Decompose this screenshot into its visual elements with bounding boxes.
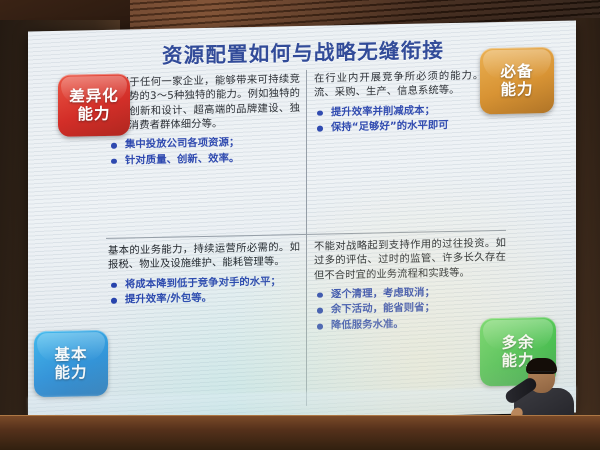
podium	[0, 416, 600, 450]
capability-matrix: 有别于任何一家企业，能够带来可持续竞争优势的3～5种独特的能力。例如独特的产品创…	[106, 64, 506, 410]
quadrant-redundant-bullets: 逐个清理，考虑取消； 余下活动，能省则省； 降低服务水准。	[314, 284, 506, 334]
quadrant-basic-bullets: 将成本降到低于竞争对手的水平； 提升效率/外包等。	[108, 274, 300, 308]
bullet-text: 集中投放公司各项资源；	[125, 136, 239, 150]
bullet-text: 将成本降到低于竞争对手的水平；	[125, 275, 281, 290]
badge-line-2: 能力	[77, 105, 110, 124]
bullet-text: 保持“足够好”的水平即可	[331, 119, 449, 133]
badge-line-1: 必备	[500, 62, 533, 81]
bullet-text: 提升效率并削减成本；	[331, 104, 435, 118]
bullet-text: 提升效率/外包等。	[125, 292, 212, 306]
quadrant-differentiating: 有别于任何一家企业，能够带来可持续竞争优势的3～5种独特的能力。例如独特的产品创…	[108, 72, 300, 169]
bullet-text: 余下活动，能省则省；	[331, 302, 435, 316]
photo-scene: 资源配置如何与战略无缝衔接 有别于任何一家企业，能够带来可持续竞争优势的3～5种…	[0, 0, 600, 450]
badge-essential-capability: 必备 能力	[480, 47, 554, 114]
bullet-dot-icon	[111, 143, 117, 149]
badge-basic-capability: 基本 能力	[34, 330, 108, 397]
quadrant-essential-bullets: 提升效率并削减成本； 保持“足够好”的水平即可	[314, 101, 506, 135]
bullet-text: 针对质量、创新、效率。	[125, 152, 239, 166]
quadrant-basic-paragraph: 基本的业务能力，持续运营所必需的。如报税、物业及设施维护、能耗管理等。	[108, 240, 300, 272]
bullet-text: 逐个清理，考虑取消；	[331, 286, 435, 300]
quadrant-differentiating-bullets: 集中投放公司各项资源； 针对质量、创新、效率。	[108, 134, 300, 168]
badge-differentiating-capability: 差异化 能力	[58, 73, 130, 136]
presenter-glasses	[528, 371, 555, 377]
bullet-item: 针对质量、创新、效率。	[108, 150, 300, 168]
bullet-dot-icon	[317, 324, 323, 330]
bullet-item: 提升效率/外包等。	[108, 289, 300, 307]
quadrant-essential-paragraph: 在行业内开展竞争所必须的能力。如物流、采购、生产、信息系统等。	[314, 68, 506, 100]
badge-line-2: 能力	[500, 80, 533, 99]
badge-line-1: 多余	[501, 333, 534, 352]
matrix-vertical-divider	[306, 70, 307, 406]
badge-line-1: 基本	[54, 345, 87, 364]
bullet-dot-icon	[111, 298, 117, 304]
bullet-dot-icon	[111, 159, 117, 165]
quadrant-differentiating-paragraph: 有别于任何一家企业，能够带来可持续竞争优势的3～5种独特的能力。例如独特的产品创…	[108, 72, 300, 133]
quadrant-redundant: 不能对战略起到支持作用的过往投资。如过多的评估、过时的监管、许多长久存在但不合时…	[314, 236, 506, 335]
badge-line-1: 差异化	[69, 86, 119, 105]
bullet-item: 降低服务水准。	[314, 315, 506, 333]
bullet-dot-icon	[317, 308, 323, 314]
quadrant-redundant-paragraph: 不能对战略起到支持作用的过往投资。如过多的评估、过时的监管、许多长久存在但不合时…	[314, 236, 506, 283]
slide: 资源配置如何与战略无缝衔接 有别于任何一家企业，能够带来可持续竞争优势的3～5种…	[28, 20, 576, 423]
quadrant-basic: 基本的业务能力，持续运营所必需的。如报税、物业及设施维护、能耗管理等。 将成本降…	[108, 240, 300, 309]
badge-line-2: 能力	[54, 363, 87, 382]
bullet-dot-icon	[317, 126, 323, 132]
bullet-item: 保持“足够好”的水平即可	[314, 117, 506, 135]
bullet-text: 降低服务水准。	[331, 318, 404, 331]
bullet-dot-icon	[317, 292, 323, 298]
projection-screen: 资源配置如何与战略无缝衔接 有别于任何一家企业，能够带来可持续竞争优势的3～5种…	[28, 20, 576, 423]
bullet-dot-icon	[111, 282, 117, 288]
bullet-dot-icon	[317, 110, 323, 116]
quadrant-essential: 在行业内开展竞争所必须的能力。如物流、采购、生产、信息系统等。 提升效率并削减成…	[314, 68, 506, 137]
